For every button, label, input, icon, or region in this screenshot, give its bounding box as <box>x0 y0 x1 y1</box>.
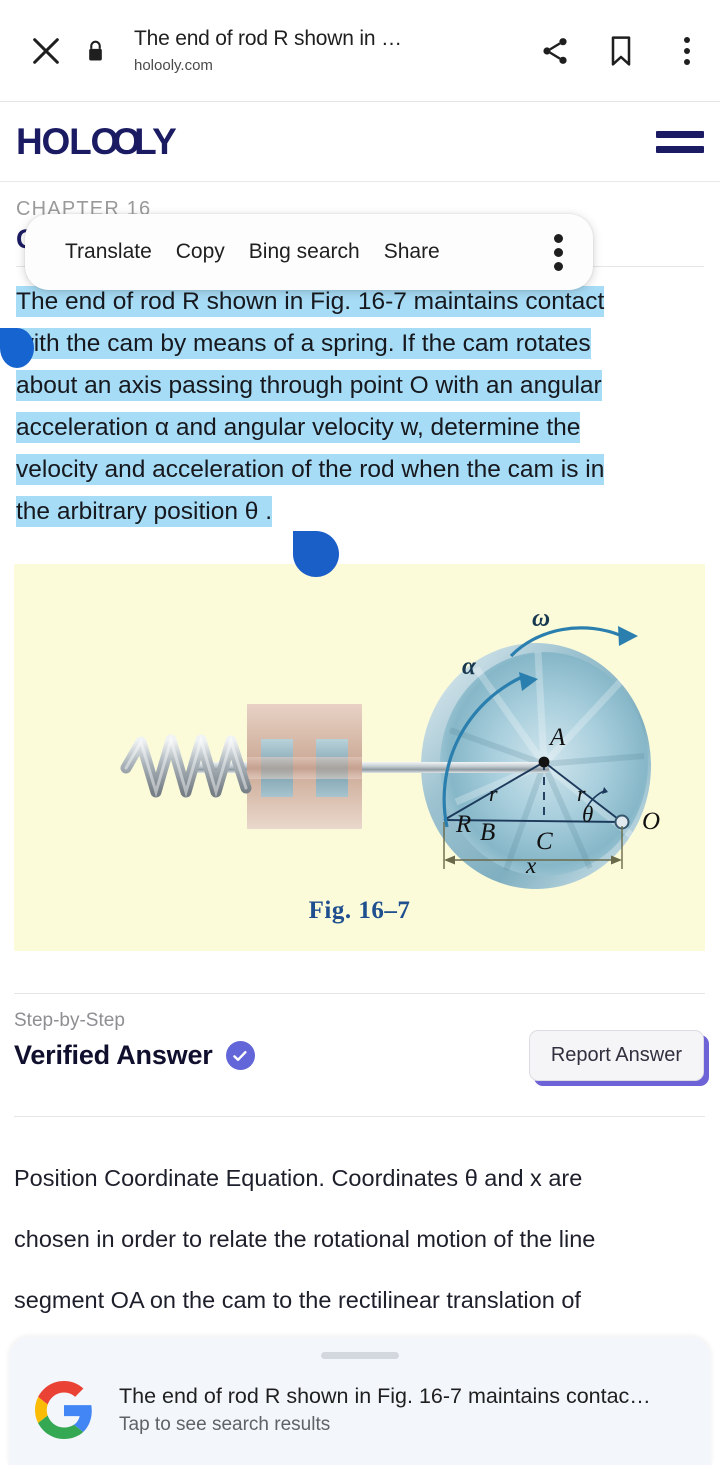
answer-line: segment OA on the cam to the rectilinear… <box>14 1270 714 1331</box>
verified-answer-header: Step-by-Step Verified Answer Report Answ… <box>14 1008 705 1103</box>
answer-body: Position Coordinate Equation. Coordinate… <box>14 1148 714 1331</box>
browser-toolbar: The end of rod R shown in … holooly.com <box>0 0 720 102</box>
answer-line: Position Coordinate Equation. Coordinate… <box>14 1148 714 1209</box>
google-g-icon <box>35 1381 93 1439</box>
browser-overflow-button[interactable] <box>654 18 720 84</box>
security-lock[interactable] <box>78 39 112 63</box>
question-line: about an axis passing through point O wi… <box>16 365 704 407</box>
selection-handle-end[interactable] <box>293 531 339 577</box>
label-theta: θ <box>582 802 593 827</box>
selection-handle-start[interactable] <box>0 328 34 368</box>
divider <box>14 1116 705 1117</box>
question-line: acceleration α and angular velocity w, d… <box>16 407 704 449</box>
figure-16-7[interactable]: A B C O r r θ x R α ω Fig. 16–7 <box>14 564 705 951</box>
label-r-left: r <box>489 781 498 806</box>
report-answer-button[interactable]: Report Answer <box>529 1030 704 1081</box>
menu-item-share[interactable]: Share <box>372 240 452 264</box>
selected-text: acceleration α and angular velocity w, d… <box>16 412 580 443</box>
check-glyph <box>231 1047 249 1065</box>
google-search-sheet[interactable]: The end of rod R shown in Fig. 16-7 main… <box>9 1337 711 1465</box>
chapter-label: CHAPTER 16 <box>0 182 720 216</box>
divider <box>14 993 705 994</box>
logo-suffix: LY <box>134 121 175 162</box>
label-A: A <box>548 724 566 751</box>
logo-oo: OO <box>91 121 135 162</box>
holooly-logo[interactable]: HOLOOLY <box>16 121 176 163</box>
close-icon <box>29 34 63 68</box>
hamburger-menu-icon[interactable] <box>650 119 704 165</box>
app-screen: The end of rod R shown in … holooly.com <box>0 0 720 1465</box>
lock-icon <box>86 39 105 63</box>
question-line: velocity and acceleration of the rod whe… <box>16 449 704 491</box>
label-omega: ω <box>532 605 550 632</box>
selected-text: with the cam by means of a spring. If th… <box>16 328 591 359</box>
share-icon <box>539 35 571 67</box>
site-header: HOLOOLY <box>0 102 720 182</box>
more-vertical-icon <box>684 37 690 65</box>
label-R: R <box>455 811 471 838</box>
close-tab-button[interactable] <box>14 34 78 68</box>
cam-mechanism-diagram: A B C O r r θ x R α ω <box>14 564 705 951</box>
question-line: the arbitrary position θ . <box>16 491 704 533</box>
google-sheet-row[interactable]: The end of rod R shown in Fig. 16-7 main… <box>35 1381 695 1439</box>
text-selection-menu: Translate Copy Bing search Share <box>25 214 593 290</box>
selected-text: about an axis passing through point O wi… <box>16 370 602 401</box>
question-text[interactable]: The end of rod R shown in Fig. 16-7 main… <box>0 281 720 533</box>
selected-text: The end of rod R shown in Fig. 16-7 main… <box>16 286 604 317</box>
drag-handle-icon[interactable] <box>321 1352 399 1359</box>
question-line: with the cam by means of a spring. If th… <box>16 323 704 365</box>
label-O: O <box>642 808 660 835</box>
selected-text: velocity and acceleration of the rod whe… <box>16 454 604 485</box>
toolbar-actions <box>522 18 720 84</box>
selected-text: the arbitrary position θ . <box>16 496 272 527</box>
share-button[interactable] <box>522 18 588 84</box>
google-sheet-texts: The end of rod R shown in Fig. 16-7 main… <box>119 1382 695 1438</box>
label-C: C <box>536 828 553 855</box>
google-query-title: The end of rod R shown in Fig. 16-7 main… <box>119 1382 695 1410</box>
label-B: B <box>480 819 495 846</box>
page-title: The end of rod R shown in … <box>134 26 522 52</box>
tab-title-block[interactable]: The end of rod R shown in … holooly.com <box>112 26 522 76</box>
label-alpha: α <box>462 653 477 680</box>
logo-prefix: HOL <box>16 121 91 162</box>
answer-line: chosen in order to relate the rotational… <box>14 1209 714 1270</box>
menu-overflow-button[interactable] <box>554 234 563 271</box>
menu-item-translate[interactable]: Translate <box>53 240 164 264</box>
figure-caption: Fig. 16–7 <box>14 897 705 925</box>
verified-answer-title: Verified Answer <box>14 1040 213 1071</box>
bookmark-icon <box>606 35 636 67</box>
menu-item-copy[interactable]: Copy <box>164 240 237 264</box>
more-vertical-icon <box>554 234 563 271</box>
label-x: x <box>525 853 537 878</box>
google-sheet-subtitle: Tap to see search results <box>119 1412 695 1438</box>
google-logo-glyph <box>35 1381 93 1439</box>
menu-item-bing-search[interactable]: Bing search <box>237 240 372 264</box>
bookmark-button[interactable] <box>588 18 654 84</box>
page-origin: holooly.com <box>134 56 522 76</box>
verified-check-icon <box>226 1041 255 1070</box>
